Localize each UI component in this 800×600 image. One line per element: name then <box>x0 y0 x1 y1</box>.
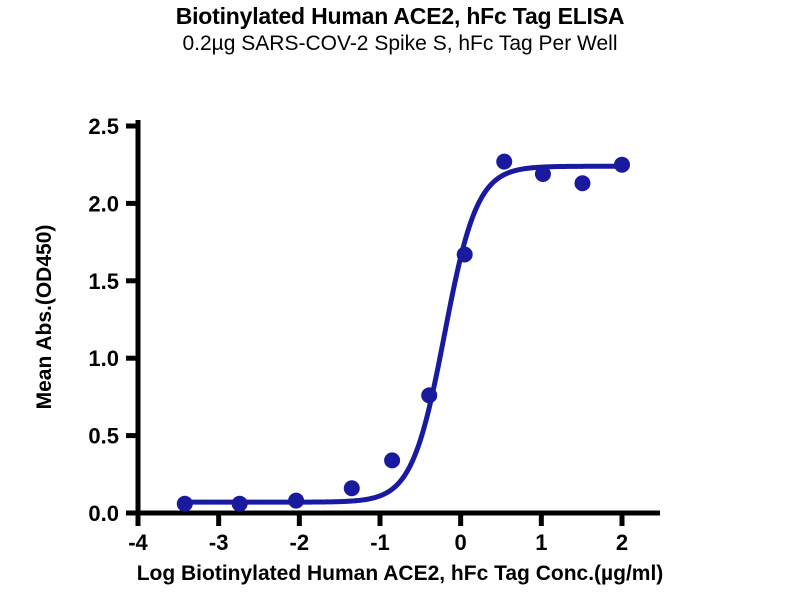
data-point <box>457 246 473 262</box>
x-tick-label: 2 <box>616 530 628 555</box>
fit-curve-path <box>185 166 622 502</box>
data-point <box>288 493 304 509</box>
x-tick-label: 1 <box>535 530 547 555</box>
x-tick-label: -4 <box>128 530 148 555</box>
data-point <box>614 157 630 173</box>
data-point <box>177 496 193 512</box>
y-tick-label: 2.5 <box>88 114 119 139</box>
data-point <box>535 166 551 182</box>
data-points-group <box>177 154 630 512</box>
data-point <box>232 496 248 512</box>
plot-area: 0.00.51.01.52.02.5-4-3-2-1012 <box>0 0 800 600</box>
y-tick-label: 0.0 <box>88 501 119 526</box>
x-tick-label: 0 <box>455 530 467 555</box>
x-tick-label: -1 <box>370 530 390 555</box>
fit-curve-group <box>185 166 622 502</box>
x-tick-label: -2 <box>290 530 310 555</box>
y-tick-label: 1.0 <box>88 346 119 371</box>
data-point <box>496 154 512 170</box>
data-point <box>421 387 437 403</box>
y-tick-label: 2.0 <box>88 191 119 216</box>
data-point <box>574 175 590 191</box>
x-axis-label: Log Biotinylated Human ACE2, hFc Tag Con… <box>0 562 800 586</box>
x-tick-label: -3 <box>209 530 229 555</box>
y-tick-label: 0.5 <box>88 424 119 449</box>
data-point <box>344 480 360 496</box>
elisa-chart-figure: Biotinylated Human ACE2, hFc Tag ELISA 0… <box>0 0 800 600</box>
y-tick-label: 1.5 <box>88 269 119 294</box>
data-point <box>384 452 400 468</box>
